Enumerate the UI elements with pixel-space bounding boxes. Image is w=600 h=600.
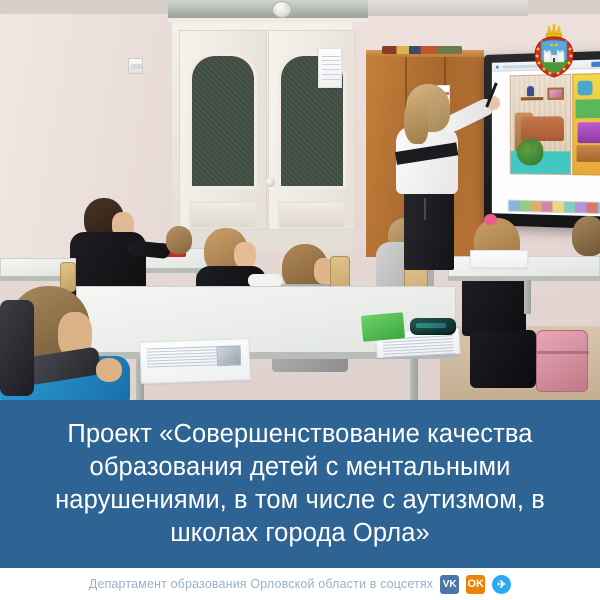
student-hair <box>166 226 192 254</box>
door-glass-left <box>189 53 257 189</box>
student-hand <box>96 358 122 382</box>
light-switch <box>128 58 143 74</box>
green-notebook <box>361 312 405 342</box>
ok-icon[interactable]: OK <box>466 575 485 594</box>
door-panel-right <box>278 201 346 229</box>
cabinet-top-items <box>382 46 462 54</box>
pencil-case <box>410 318 456 335</box>
footer: Департамент образования Орловской област… <box>0 568 600 600</box>
whiteboard-thumbnail-strip <box>508 200 600 215</box>
footer-text: Департамент образования Орловской област… <box>89 577 433 591</box>
banner-title: Проект «Совершенствование качества образ… <box>0 418 600 551</box>
whiteboard-illustration-kitchen <box>572 73 600 176</box>
worksheet-back <box>470 250 528 268</box>
oryol-oblast-coat-of-arms-icon <box>527 22 581 80</box>
door-knob <box>266 178 275 187</box>
worksheet-front <box>139 338 250 384</box>
door-notice-paper <box>318 48 342 88</box>
door-right <box>268 30 356 230</box>
student-legs <box>470 330 536 388</box>
classroom-photo <box>0 0 600 400</box>
student-face <box>234 242 256 268</box>
vk-icon[interactable]: VK <box>440 575 459 594</box>
transom-window-right <box>368 0 528 16</box>
backpack-pink <box>536 330 588 392</box>
chair-foreground <box>0 300 34 396</box>
whiteboard-illustration-room <box>510 74 572 175</box>
door-left <box>179 30 267 230</box>
teacher-hair-front <box>404 100 428 144</box>
transom-window <box>168 0 368 22</box>
social-media-poster: Проект «Совершенствование качества образ… <box>0 0 600 600</box>
teacher-legs <box>404 190 454 270</box>
hair-tie <box>484 214 497 225</box>
student-hair <box>572 216 600 256</box>
banner: Проект «Совершенствование качества образ… <box>0 400 600 568</box>
whiteboard-toolbar-button <box>591 61 600 67</box>
desk-leg <box>524 280 531 314</box>
teacher-drawstring <box>424 198 426 220</box>
telegram-icon[interactable]: ✈ <box>492 575 511 594</box>
whiteboard-screen <box>492 59 600 217</box>
door-panel-left <box>189 201 257 229</box>
wall-clock <box>272 1 292 18</box>
desk-leg <box>410 358 418 400</box>
